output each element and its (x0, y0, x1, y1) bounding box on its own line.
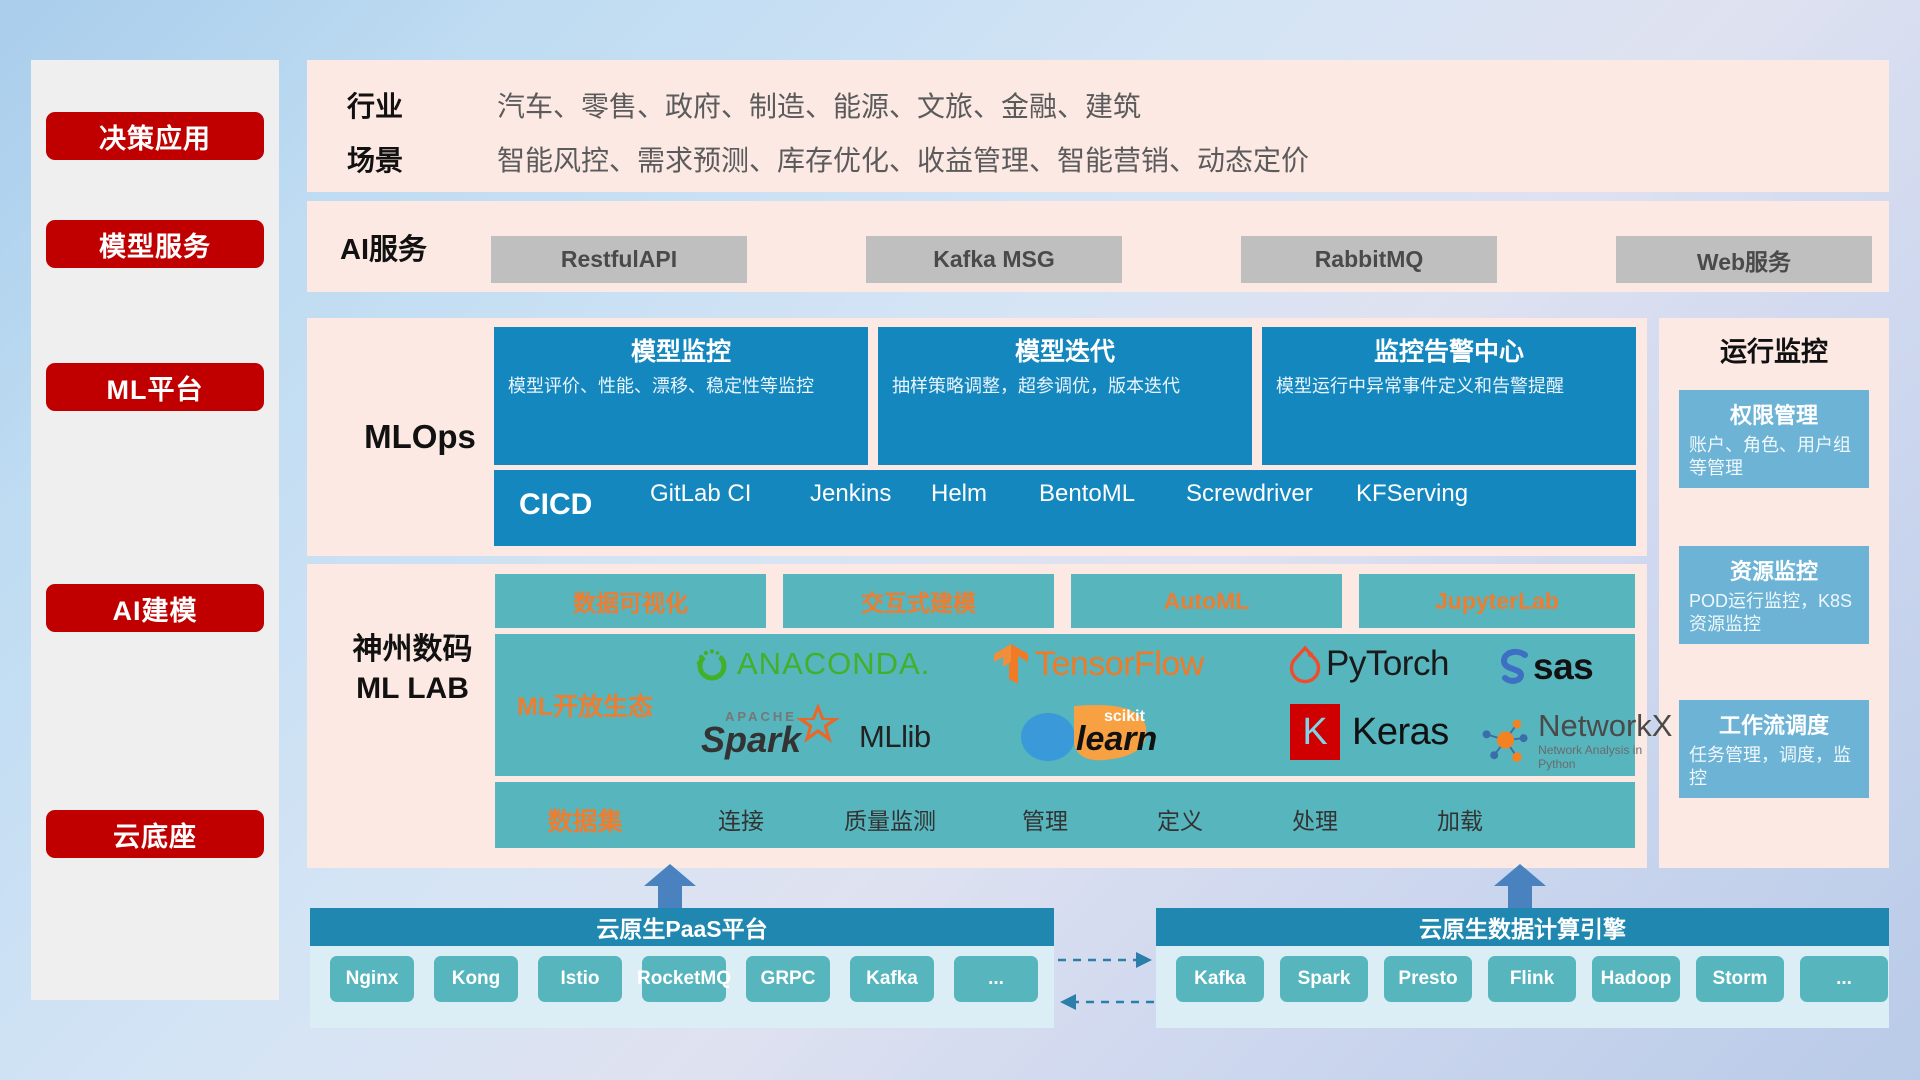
engine-chip-more[interactable]: ... (1800, 956, 1888, 1002)
service-box-label: Kafka MSG (933, 246, 1054, 273)
sidebar-item-label: AI建模 (113, 589, 198, 628)
cicd-item-bentoml[interactable]: BentoML (1039, 480, 1139, 508)
tool-label: 交互式建模 (861, 584, 976, 618)
spark-mllib-logo: APACHE Spark MLlib (701, 707, 931, 767)
cicd-item-jenkins[interactable]: Jenkins (810, 480, 900, 508)
service-box-label: Web服务 (1697, 243, 1791, 277)
ai-service-label: AI服务 (340, 201, 490, 292)
data-engine-bar: 云原生数据计算引擎 (1156, 908, 1889, 946)
chip-label: Istio (560, 969, 599, 989)
card-title: 工作流调度 (1689, 708, 1859, 740)
cicd-label: CICD (519, 488, 629, 523)
chip-label: Storm (1713, 969, 1768, 989)
tool-interactive-modeling[interactable]: 交互式建模 (783, 574, 1054, 628)
card-desc: 任务管理，调度，监控 (1689, 744, 1859, 791)
cicd-bar: CICD GitLab CI Jenkins Helm BentoML Scre… (494, 470, 1636, 546)
networkx-mark (1479, 716, 1532, 766)
mlops-card-alert-center[interactable]: 监控告警中心 模型运行中异常事件定义和告警提醒 (1262, 327, 1636, 465)
paas-chip-more[interactable]: ... (954, 956, 1038, 1002)
card-desc: 账户、角色、用户组等管理 (1689, 434, 1859, 481)
paas-platform-title: 云原生PaaS平台 (596, 910, 767, 944)
tool-label: JupyterLab (1435, 588, 1559, 615)
data-engine-up-arrow-icon (1490, 862, 1550, 908)
keras-logo: K Keras (1290, 704, 1449, 760)
sidebar-item-label: ML平台 (107, 368, 204, 407)
ml-lab-label-line1: 神州数码 (320, 630, 505, 669)
engine-chip-kafka[interactable]: Kafka (1176, 956, 1264, 1002)
industry-label: 行业 (347, 85, 467, 125)
card-desc: 模型运行中异常事件定义和告警提醒 (1276, 374, 1622, 398)
scenario-label: 场景 (347, 139, 467, 179)
cicd-item-helm[interactable]: Helm (931, 480, 1021, 508)
paas-chip-grpc[interactable]: GRPC (746, 956, 830, 1002)
card-desc: 模型评价、性能、漂移、稳定性等监控 (508, 374, 854, 398)
networkx-tagline: Network Analysis in Python (1538, 743, 1675, 771)
engine-chip-presto[interactable]: Presto (1384, 956, 1472, 1002)
paas-platform-bar: 云原生PaaS平台 (310, 908, 1054, 946)
dataset-item-process[interactable]: 处理 (1255, 802, 1375, 836)
bidirectional-dashed-arrows (1056, 940, 1156, 1030)
engine-chip-flink[interactable]: Flink (1488, 956, 1576, 1002)
mlops-label: MLOps (335, 318, 505, 556)
dataset-item-load[interactable]: 加载 (1400, 802, 1520, 836)
layer-rail: 决策应用 模型服务 ML平台 AI建模 云底座 (31, 60, 279, 1000)
pytorch-wordmark: PyTorch (1326, 644, 1449, 684)
pytorch-logo: PyTorch (1288, 644, 1449, 684)
scikit-learn-logo: scikit learn (1018, 704, 1193, 764)
paas-up-arrow-icon (640, 862, 700, 908)
decision-apps-panel: 行业 汽车、零售、政府、制造、能源、文旅、金融、建筑 场景 智能风控、需求预测、… (307, 60, 1889, 192)
chip-label: Kong (452, 969, 501, 989)
chip-label: Spark (1298, 969, 1351, 989)
paas-chip-rocketmq[interactable]: RocketMQ (642, 956, 726, 1002)
monitor-card-resource[interactable]: 资源监控 POD运行监控，K8S资源监控 (1679, 546, 1869, 644)
dataset-label: 数据集 (505, 802, 665, 838)
service-box-rabbitmq[interactable]: RabbitMQ (1241, 236, 1497, 283)
chip-label: Kafka (1194, 969, 1246, 989)
card-title: 模型监控 (508, 337, 854, 368)
sas-mark (1495, 648, 1535, 686)
tool-label: 数据可视化 (573, 584, 688, 618)
mllib-wordmark: MLlib (859, 719, 931, 755)
sidebar-item-ai-modeling[interactable]: AI建模 (46, 584, 264, 632)
dataset-item-connect[interactable]: 连接 (681, 802, 801, 836)
sas-logo: sas (1495, 646, 1593, 688)
mlops-card-model-iteration[interactable]: 模型迭代 抽样策略调整，超参调优，版本迭代 (878, 327, 1252, 465)
networkx-logo: NetworkX Network Analysis in Python (1479, 710, 1675, 771)
sidebar-item-label: 决策应用 (99, 117, 211, 156)
paas-chip-kafka[interactable]: Kafka (850, 956, 934, 1002)
cicd-item-screwdriver[interactable]: Screwdriver (1186, 480, 1326, 508)
chip-label: Hadoop (1601, 969, 1672, 989)
sidebar-item-label: 模型服务 (99, 225, 211, 264)
dataset-item-quality[interactable]: 质量监测 (815, 802, 965, 836)
monitor-card-workflow[interactable]: 工作流调度 任务管理，调度，监控 (1679, 700, 1869, 798)
chip-label: Presto (1398, 969, 1457, 989)
service-box-web-service[interactable]: Web服务 (1616, 236, 1872, 283)
sidebar-item-model-service[interactable]: 模型服务 (46, 220, 264, 268)
ml-open-ecosystem-label: ML开放生态 (505, 687, 665, 723)
service-box-label: RabbitMQ (1315, 246, 1424, 273)
mlops-card-model-monitoring[interactable]: 模型监控 模型评价、性能、漂移、稳定性等监控 (494, 327, 868, 465)
tool-label: AutoML (1164, 588, 1250, 615)
paas-chip-kong[interactable]: Kong (434, 956, 518, 1002)
spark-star-mark (794, 701, 842, 745)
sidebar-item-label: 云底座 (113, 815, 197, 854)
service-box-restfulapi[interactable]: RestfulAPI (491, 236, 747, 283)
chip-label: ... (1836, 969, 1852, 989)
tensorflow-mark (990, 642, 1032, 686)
chip-label: Kafka (866, 969, 918, 989)
keras-k-letter: K (1302, 711, 1327, 754)
run-monitor-title: 运行监控 (1659, 326, 1889, 372)
cicd-item-kfserving[interactable]: KFServing (1356, 480, 1481, 508)
service-box-label: RestfulAPI (561, 246, 677, 273)
ml-lab-label: 神州数码 ML LAB (320, 630, 505, 708)
keras-wordmark: Keras (1352, 711, 1449, 754)
data-engine-title: 云原生数据计算引擎 (1419, 910, 1626, 944)
chip-label: Flink (1510, 969, 1554, 989)
chip-label: ... (988, 969, 1004, 989)
learn-text: learn (1076, 720, 1157, 759)
monitor-card-permission[interactable]: 权限管理 账户、角色、用户组等管理 (1679, 390, 1869, 488)
sidebar-item-cloud-base[interactable]: 云底座 (46, 810, 264, 858)
engine-chip-hadoop[interactable]: Hadoop (1592, 956, 1680, 1002)
tool-jupyterlab[interactable]: JupyterLab (1359, 574, 1635, 628)
ml-lab-label-line2: ML LAB (320, 669, 505, 708)
chip-label: GRPC (761, 969, 816, 989)
chip-label: Nginx (346, 969, 399, 989)
cicd-item-gitlab-ci[interactable]: GitLab CI (650, 480, 775, 508)
card-desc: 抽样策略调整，超参调优，版本迭代 (892, 374, 1238, 398)
paas-chip-nginx[interactable]: Nginx (330, 956, 414, 1002)
anaconda-mark (692, 644, 732, 684)
chip-label: RocketMQ (637, 969, 731, 989)
scenario-value: 智能风控、需求预测、库存优化、收益管理、智能营销、动态定价 (497, 139, 1309, 179)
ml-open-ecosystem: ML开放生态 ANACONDA . TensorFlow (495, 634, 1635, 776)
sidebar-item-ml-platform[interactable]: ML平台 (46, 363, 264, 411)
dataset-row: 数据集 连接 质量监测 管理 定义 处理 加载 (495, 782, 1635, 848)
anaconda-dot: . (921, 646, 930, 682)
dataset-item-define[interactable]: 定义 (1120, 802, 1240, 836)
service-box-kafka-msg[interactable]: Kafka MSG (866, 236, 1122, 283)
paas-chip-istio[interactable]: Istio (538, 956, 622, 1002)
tool-automl[interactable]: AutoML (1071, 574, 1342, 628)
industry-value: 汽车、零售、政府、制造、能源、文旅、金融、建筑 (497, 85, 1141, 125)
card-title: 资源监控 (1689, 554, 1859, 586)
tensorflow-logo: TensorFlow (990, 642, 1204, 686)
card-title: 监控告警中心 (1276, 337, 1622, 368)
anaconda-logo: ANACONDA . (692, 644, 929, 684)
dataset-item-manage[interactable]: 管理 (985, 802, 1105, 836)
card-desc: POD运行监控，K8S资源监控 (1689, 590, 1859, 637)
spark-wordmark: Spark (701, 719, 801, 761)
sidebar-item-decision-apps[interactable]: 决策应用 (46, 112, 264, 160)
diagram-canvas: 决策应用 模型服务 ML平台 AI建模 云底座 行业 汽车、零售、政府、制造、能… (0, 0, 1920, 1080)
sas-wordmark: sas (1533, 646, 1593, 688)
keras-mark: K (1290, 704, 1340, 760)
card-title: 模型迭代 (892, 337, 1238, 368)
anaconda-wordmark: ANACONDA (737, 646, 921, 682)
pytorch-mark (1288, 644, 1322, 684)
engine-chip-storm[interactable]: Storm (1696, 956, 1784, 1002)
tensorflow-wordmark: TensorFlow (1035, 645, 1204, 684)
card-title: 权限管理 (1689, 398, 1859, 430)
tool-data-visualization[interactable]: 数据可视化 (495, 574, 766, 628)
engine-chip-spark[interactable]: Spark (1280, 956, 1368, 1002)
networkx-wordmark: NetworkX (1538, 710, 1675, 741)
